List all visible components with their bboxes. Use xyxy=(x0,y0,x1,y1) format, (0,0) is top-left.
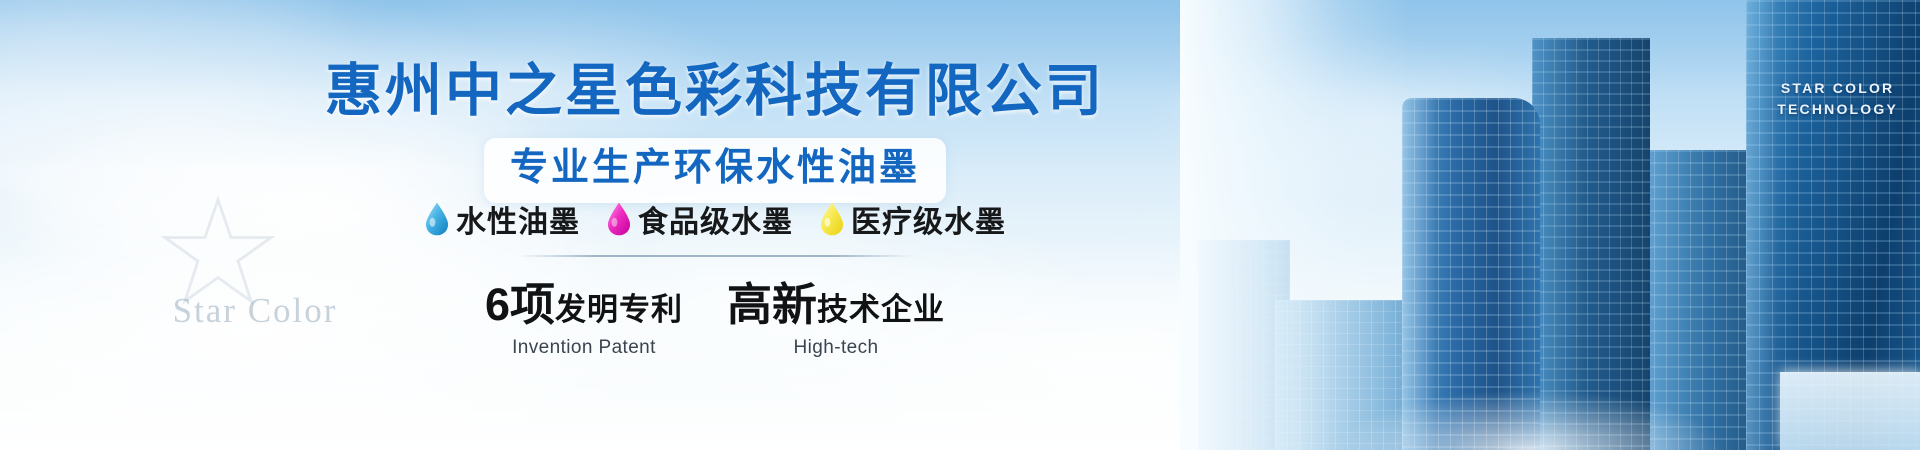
badge-list: 6项 发明专利 Invention Patent 高新 技术企业 High-te… xyxy=(0,268,1430,359)
feature-item-2: 医疗级水墨 xyxy=(819,197,1006,241)
feature-label-0: 水性油墨 xyxy=(456,197,580,241)
building-podium xyxy=(1780,372,1920,450)
feature-item-1: 食品级水墨 xyxy=(606,197,793,241)
corner-brand-line1: STAR COLOR xyxy=(1777,78,1898,99)
water-drop-icon xyxy=(819,202,845,236)
badge-big-0: 6项 xyxy=(485,268,555,333)
badge-small-1: 技术企业 xyxy=(817,284,945,329)
badge-cn-1: 高新 技术企业 xyxy=(727,268,945,333)
corner-brand-label: STAR COLOR TECHNOLOGY xyxy=(1777,78,1898,120)
badge-cn-0: 6项 发明专利 xyxy=(485,268,683,333)
badge-en-0: Invention Patent xyxy=(485,337,683,359)
badge-small-0: 发明专利 xyxy=(555,284,683,329)
feature-label-2: 医疗级水墨 xyxy=(851,197,1006,241)
badge-en-1: High-tech xyxy=(727,337,945,359)
feature-item-0: 水性油墨 xyxy=(424,197,580,241)
water-drop-icon xyxy=(606,202,632,236)
section-divider xyxy=(517,255,913,257)
promo-banner: STAR COLOR TECHNOLOGY Star Color 惠州中之星色彩… xyxy=(0,0,1920,450)
company-title: 惠州中之星色彩科技有限公司 xyxy=(0,58,1430,125)
subtitle-container: 专业生产环保水性油墨 xyxy=(0,138,1430,203)
feature-label-1: 食品级水墨 xyxy=(638,197,793,241)
corner-brand-line2: TECHNOLOGY xyxy=(1777,99,1898,120)
badge-item-1: 高新 技术企业 High-tech xyxy=(727,268,945,359)
feature-list: 水性油墨 食品级水墨 xyxy=(0,197,1430,241)
water-drop-icon xyxy=(424,202,450,236)
badge-item-0: 6项 发明专利 Invention Patent xyxy=(485,268,683,359)
badge-big-1: 高新 xyxy=(727,268,817,333)
banner-content: 惠州中之星色彩科技有限公司 专业生产环保水性油墨 水性油 xyxy=(0,0,1430,450)
subtitle-pill: 专业生产环保水性油墨 xyxy=(484,138,946,203)
